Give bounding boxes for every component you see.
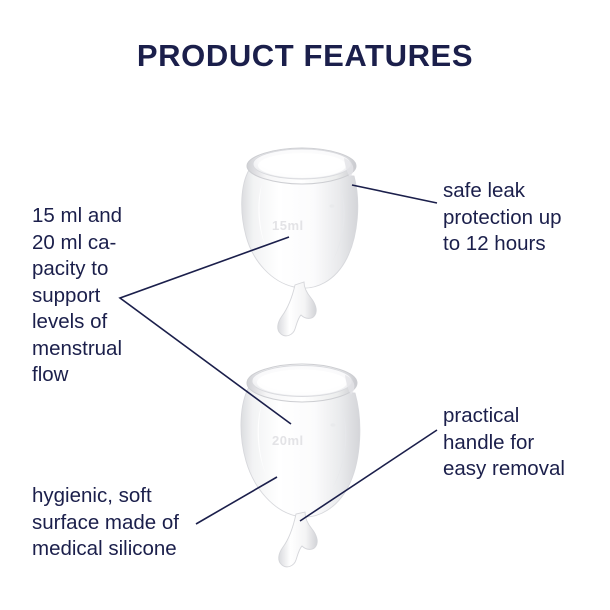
cup-20ml-air-hole bbox=[330, 423, 335, 427]
cup-15ml-air-hole bbox=[329, 204, 334, 208]
cup-20ml-body bbox=[241, 387, 360, 517]
callout-hygienic-surface: hygienic, soft surface made of medical s… bbox=[32, 483, 232, 563]
menstrual-cup-20ml bbox=[232, 355, 382, 570]
cup-20ml-opening-inner bbox=[257, 370, 347, 396]
infographic-canvas: PRODUCT FEATURES bbox=[0, 0, 610, 610]
cup-20ml-illustration bbox=[232, 355, 382, 570]
menstrual-cup-15ml bbox=[232, 140, 382, 340]
cup-15ml-handle bbox=[278, 282, 317, 336]
callout-leak-protection: safe leak protection up to 12 hours bbox=[443, 178, 603, 258]
cup-15ml-opening-inner bbox=[258, 153, 346, 178]
cup-15ml-illustration bbox=[232, 140, 382, 340]
cup-15ml-volume-marking: 15ml bbox=[272, 218, 304, 233]
cup-20ml-volume-marking: 20ml bbox=[272, 433, 304, 448]
cup-20ml-handle bbox=[279, 512, 318, 567]
callout-practical-handle: practical handle for easy removal bbox=[443, 403, 603, 483]
callout-capacity: 15 ml and 20 ml ca- pacity to support le… bbox=[32, 203, 182, 389]
